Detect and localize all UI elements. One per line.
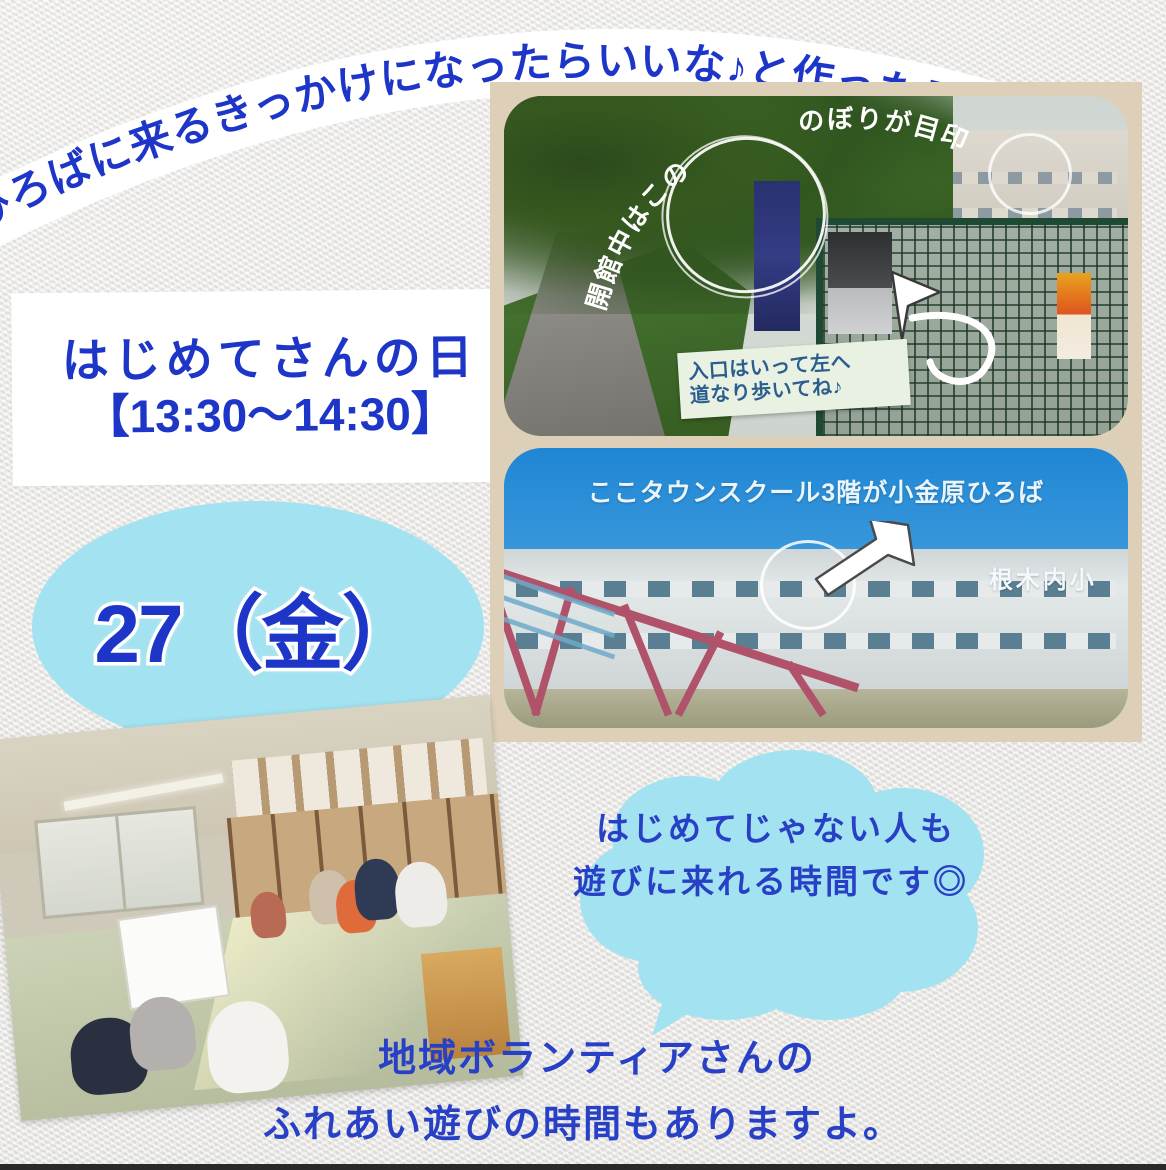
bottom-note-line2: ふれあい遊びの時間もありますよ。 [0,1092,1166,1158]
school-photo-name-label: 根木内小 [989,560,1097,595]
photo-collage-frame: 開館中はこの のぼりが目印 入口はいって左へ 道なり歩いてね♪ [490,82,1142,742]
school-photo: ここタウンスクール3階が小金原ひろば 根木内小 [504,448,1128,728]
date-badge-text: 27（金） [94,567,421,686]
flyer-canvas: ひろばに来るきっかけになったらいいな♪と作った日☺ はじめてさんの日 【13:3… [0,0,1166,1170]
event-info-card: はじめてさんの日 【13:30〜14:30】 [11,289,529,486]
photo-warning-sign [1057,273,1091,359]
room-window [34,806,204,920]
room-whiteboard [117,905,230,1010]
entrance-photo: 開館中はこの のぼりが目印 入口はいって左へ 道なり歩いてね♪ [504,96,1128,436]
event-time: 【13:30〜14:30】 [83,387,457,443]
speech-bubble-shape [580,750,984,1036]
school-arrow-icon [810,521,920,607]
event-title: はじめてさんの日 [62,331,478,386]
circle-doodle-small-icon [988,133,1072,215]
bottom-note-line1: 地域ボランティアさんの [28,1026,1166,1092]
speech-bubble: はじめてじゃない人も 遊びに来れる時間です◎ [556,750,996,1040]
bottom-note: 地域ボランティアさんの ふれあい遊びの時間もありますよ。 [0,1026,1166,1158]
school-photo-caption: ここタウンスクール3階が小金原ひろば [504,473,1128,509]
